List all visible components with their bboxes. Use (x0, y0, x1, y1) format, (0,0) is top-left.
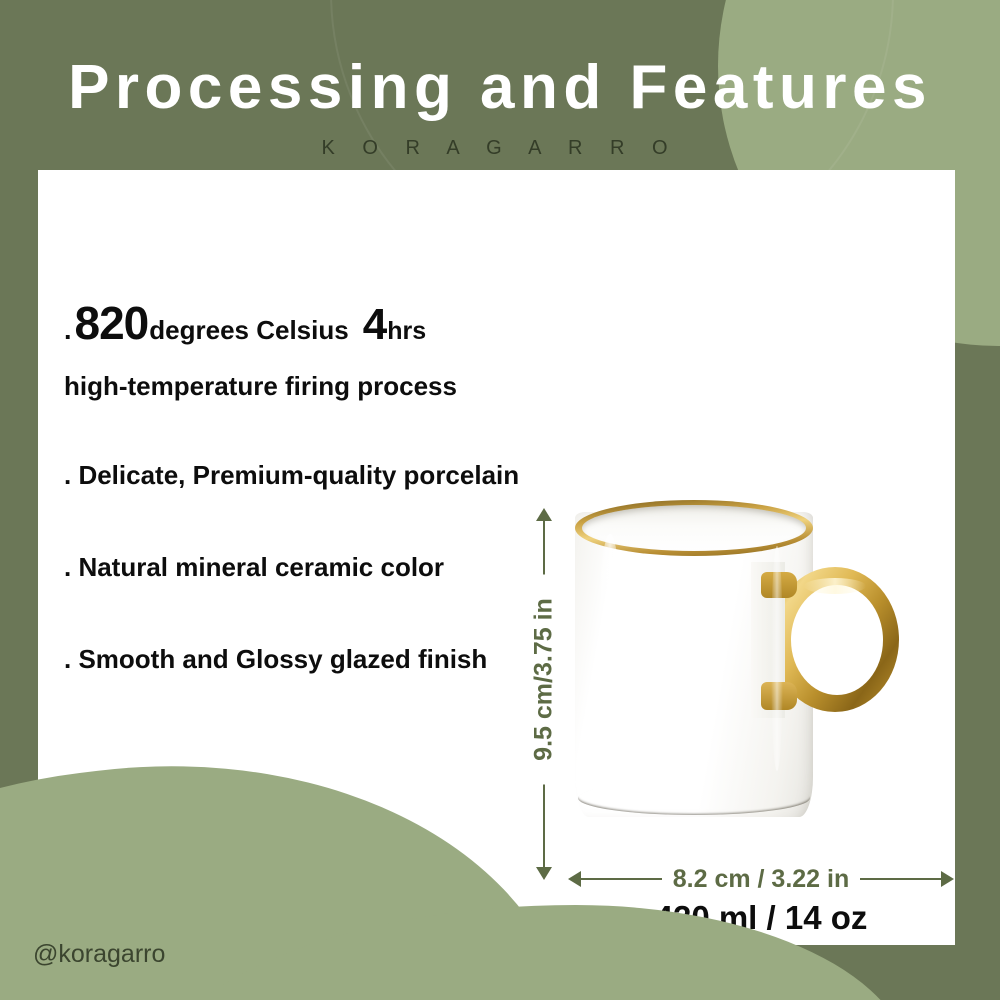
feature-bullet-1: . Delicate, Premium-quality porcelain (64, 462, 624, 488)
mug-gloss-highlight-left (597, 534, 623, 784)
temperature-value: 820 (75, 300, 149, 346)
brand-subtitle: K O R A G A R R O (0, 138, 1000, 158)
height-dimension: 9.5 cm/3.75 in (527, 505, 561, 880)
temperature-unit: degrees Celsius (149, 317, 348, 343)
firing-process-line: high-temperature firing process (64, 373, 624, 399)
duration-unit: hrs (387, 319, 426, 344)
bullet-mark: . (64, 317, 72, 344)
watermark-handle: @koragarro (33, 940, 165, 969)
mug-handle-hole (791, 585, 883, 695)
firing-spec-line: . 820 degrees Celsius 4 hrs (64, 300, 624, 347)
header: Processing and Features K O R A G A R R … (0, 0, 1000, 172)
page-title: Processing and Features (0, 57, 1000, 119)
width-dimension-label: 8.2 cm / 3.22 in (566, 862, 956, 896)
arrow-down-icon (536, 867, 552, 880)
infographic-canvas: Processing and Features K O R A G A R R … (0, 0, 1000, 1000)
height-dimension-label: 9.5 cm/3.75 in (528, 575, 561, 785)
width-dimension-text: 8.2 cm / 3.22 in (662, 865, 861, 893)
duration-value: 4 (363, 303, 386, 347)
mug-inner-opening (582, 505, 806, 551)
mug-gloss-highlight-right (771, 546, 783, 771)
width-dimension: 8.2 cm / 3.22 in (566, 862, 956, 896)
mug-handle-highlight (804, 578, 866, 594)
product-mug-image (575, 500, 905, 830)
arrow-up-icon (536, 508, 552, 521)
